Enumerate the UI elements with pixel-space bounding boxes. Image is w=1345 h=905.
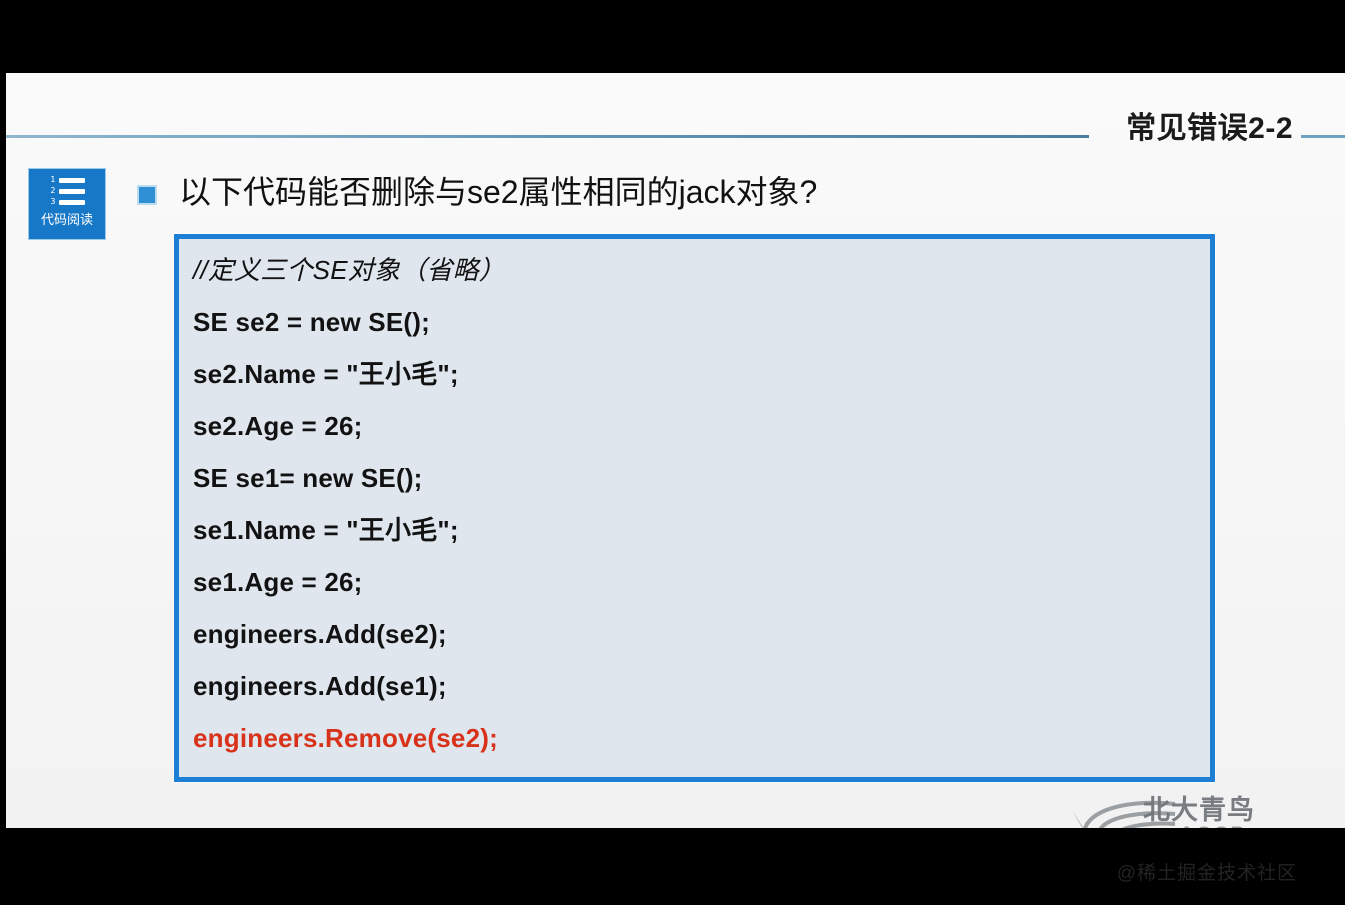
brand-name-cn: 北大青鸟 xyxy=(1143,797,1255,824)
list-bar xyxy=(59,189,85,194)
brand-name-en: ACCP xyxy=(1179,824,1247,828)
topic-badge-label: 代码阅读 xyxy=(41,213,93,226)
code-line: SE se1= new SE(); xyxy=(193,465,1210,491)
list-bar xyxy=(59,200,85,205)
watermark-text: @稀土掘金技术社区 xyxy=(1117,864,1297,883)
code-line: engineers.Add(se2); xyxy=(193,621,1210,647)
code-line: se2.Name = "王小毛"; xyxy=(193,361,1210,387)
presentation-slide: 常见错误2-2 1 2 3 代码阅读 xyxy=(6,73,1345,828)
list-bar xyxy=(59,178,85,183)
list-number: 1 xyxy=(50,176,56,184)
bullet-square-icon xyxy=(137,185,157,205)
code-line: se1.Age = 26; xyxy=(193,569,1210,595)
header-rule-right xyxy=(1301,135,1345,138)
numbered-list-icon: 1 2 3 xyxy=(50,176,85,206)
list-number: 3 xyxy=(50,198,56,206)
slide-header: 常见错误2-2 xyxy=(6,73,1345,143)
code-line: engineers.Add(se1); xyxy=(193,673,1210,699)
brand-logo: 北大青鸟 ACCP xyxy=(1071,794,1286,828)
header-rule-left xyxy=(6,135,1089,138)
code-line-highlighted: engineers.Remove(se2); xyxy=(193,725,1210,751)
list-number: 2 xyxy=(50,187,56,195)
question-text: 以下代码能否删除与se2属性相同的jack对象? xyxy=(179,173,817,211)
slide-title: 常见错误2-2 xyxy=(1126,114,1293,144)
video-letterbox-viewport: 常见错误2-2 1 2 3 代码阅读 xyxy=(0,0,1345,905)
code-line: se2.Age = 26; xyxy=(193,413,1210,439)
numbered-list-row: 3 xyxy=(50,198,85,206)
numbered-list-row: 2 xyxy=(50,187,85,195)
question-heading: 以下代码能否删除与se2属性相同的jack对象? xyxy=(137,173,817,211)
topic-badge-code-reading: 1 2 3 代码阅读 xyxy=(28,168,106,240)
code-line: se1.Name = "王小毛"; xyxy=(193,517,1210,543)
code-line: SE se2 = new SE(); xyxy=(193,309,1210,335)
code-block: //定义三个SE对象（省略） SE se2 = new SE(); se2.Na… xyxy=(174,234,1215,782)
numbered-list-row: 1 xyxy=(50,176,85,184)
brand-swoosh-icon xyxy=(1071,798,1181,828)
code-block-content: //定义三个SE对象（省略） SE se2 = new SE(); se2.Na… xyxy=(179,239,1210,751)
code-line: //定义三个SE对象（省略） xyxy=(193,257,1210,283)
